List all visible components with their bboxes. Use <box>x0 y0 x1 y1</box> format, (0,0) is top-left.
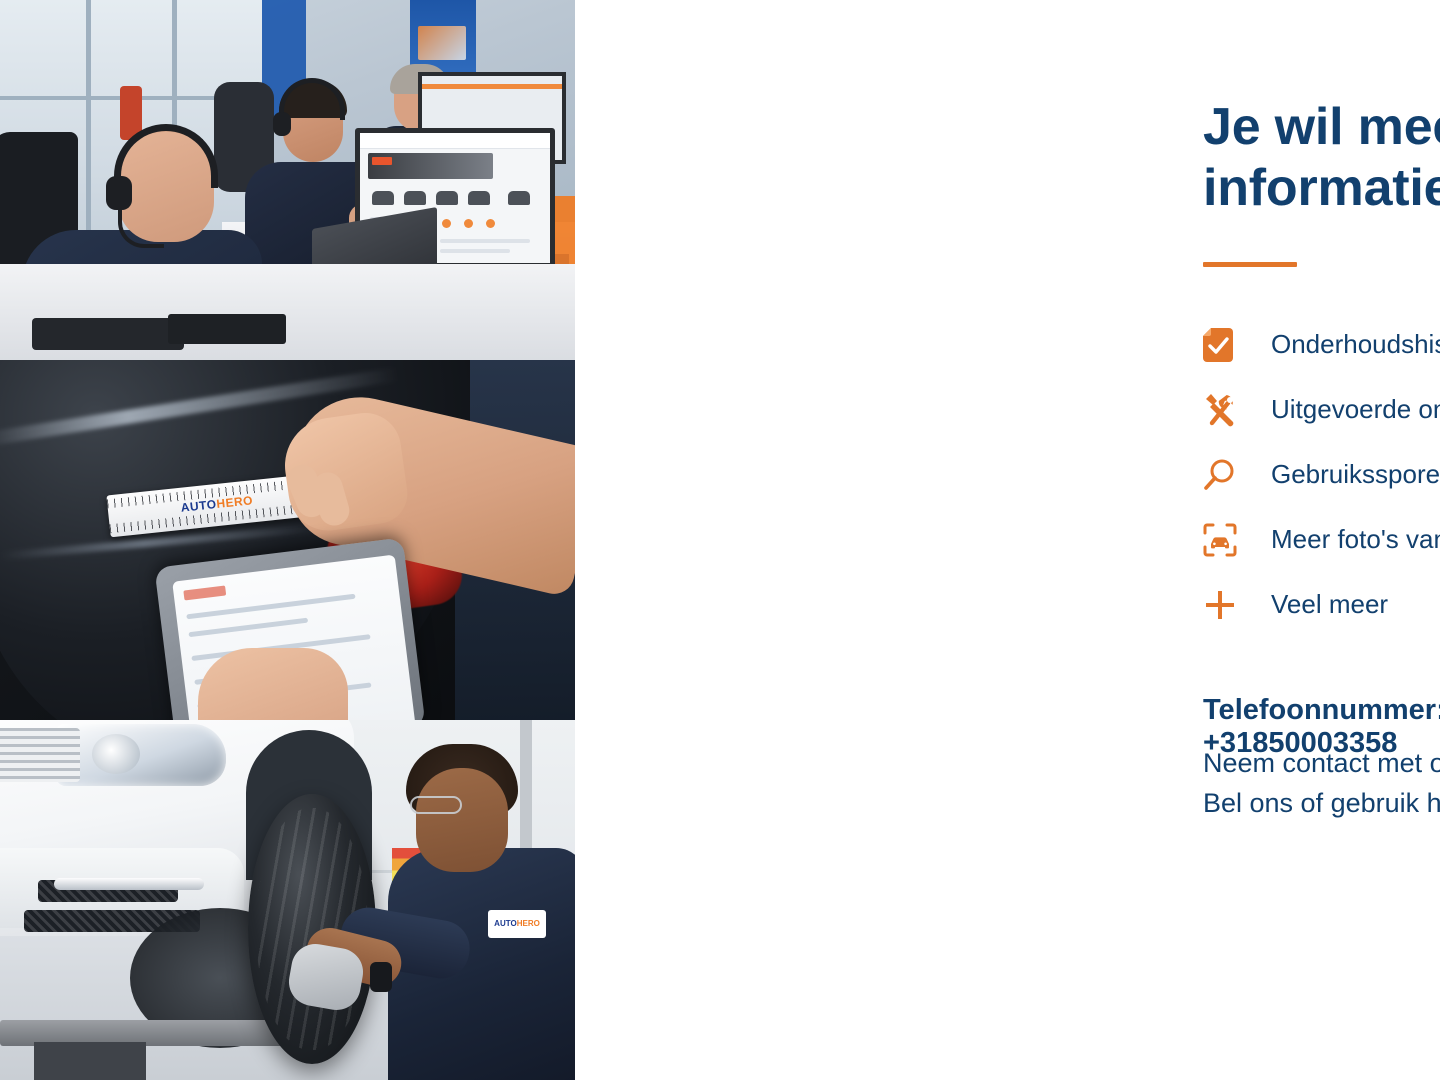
feature-label: Meer foto's van de auto <box>1247 524 1440 555</box>
inspector-hand-holding-tablet <box>198 648 348 720</box>
page-title: Je wil meer informatie over: <box>1203 97 1440 220</box>
plus-icon <box>1203 588 1247 622</box>
car-inspection-ruler-photo: AUTOHERO <box>0 360 575 720</box>
call-center-agents-photo: AUTOHERO <box>0 0 575 360</box>
mechanic: AUTOHERO <box>376 734 575 1080</box>
car-lift-leg <box>34 1042 146 1080</box>
desk-notebook <box>168 314 286 344</box>
promo-page: AUTOHERO AUTOHERO <box>0 0 1440 1080</box>
title-divider <box>1203 262 1297 267</box>
page-title-line1: Je wil meer <box>1203 98 1440 156</box>
feature-list: Onderhoudshistorie Uitgevoerde onderhoud… <box>1203 312 1440 637</box>
contact-line1: Neem contact met ons op voor meer inform… <box>1203 748 1440 778</box>
feature-label: Onderhoudshistorie <box>1247 329 1440 360</box>
polo-logo: AUTOHERO <box>488 910 546 938</box>
feature-label: Uitgevoerde onderhoudswerkzaamheden <box>1247 394 1440 425</box>
contact-line2: Bel ons of gebruik het contactformulier. <box>1203 788 1440 818</box>
feature-item-onderhoudswerkzaamheden: Uitgevoerde onderhoudswerkzaamheden <box>1203 377 1440 442</box>
desk-tablet <box>32 318 184 350</box>
tools-wrench-screwdriver-icon <box>1203 393 1247 427</box>
feature-label: Veel meer <box>1247 589 1388 620</box>
car-grille <box>0 728 80 782</box>
car-headlight <box>56 724 226 786</box>
contact-text: Neem contact met ons op voor meer inform… <box>1203 744 1440 824</box>
feature-label: Gebruikssporen <box>1247 459 1440 490</box>
chrome-trim <box>54 878 204 890</box>
magnifier-icon <box>1203 459 1247 491</box>
car-scan-icon <box>1203 523 1247 557</box>
photo-column: AUTOHERO AUTOHERO <box>0 0 575 1080</box>
document-check-icon <box>1203 328 1247 362</box>
ruler-brand-hero: HERO <box>216 493 254 511</box>
mechanic-tyre-workshop-photo: AUTOHERO <box>0 720 575 1080</box>
ruler-brand-auto: AUTO <box>180 497 217 515</box>
feature-item-meer-fotos: Meer foto's van de auto <box>1203 507 1440 572</box>
feature-item-gebruikssporen: Gebruikssporen <box>1203 442 1440 507</box>
content-panel: Je wil meer informatie over: Onderhoudsh… <box>575 0 1440 1080</box>
feature-item-veel-meer: Veel meer <box>1203 572 1440 637</box>
feature-item-onderhoudshistorie: Onderhoudshistorie <box>1203 312 1440 377</box>
page-title-line2: informatie over: <box>1203 158 1440 219</box>
